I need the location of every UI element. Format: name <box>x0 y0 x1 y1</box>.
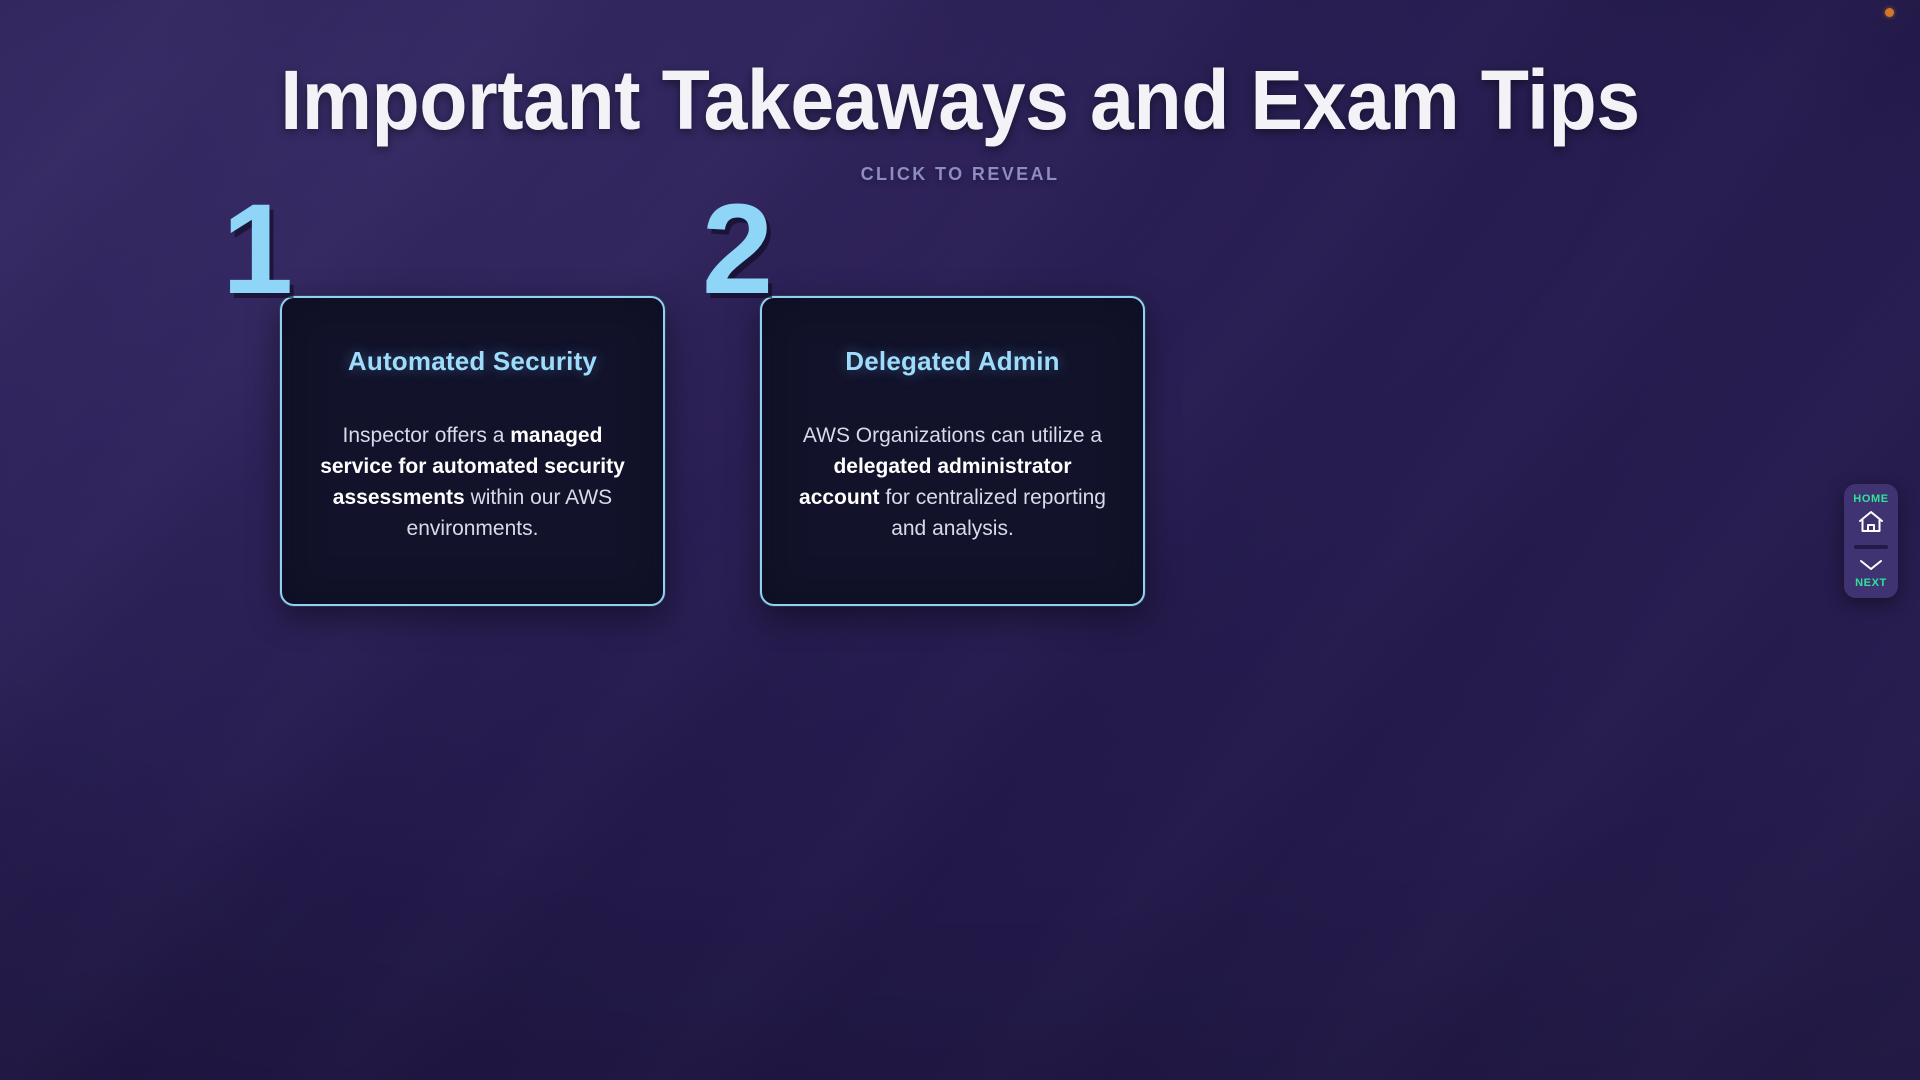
card-number-badge: 2 <box>702 186 773 314</box>
card-body-text: Inspector offers a <box>343 424 511 447</box>
card-body-text: AWS Organizations can utilize a <box>803 424 1102 447</box>
card-body-text: for centralized reporting and analysis. <box>880 486 1106 540</box>
takeaway-card[interactable]: Automated SecurityInspector offers a man… <box>280 296 665 606</box>
nav-divider <box>1854 545 1888 549</box>
chevron-down-icon[interactable] <box>1856 557 1886 573</box>
takeaway-card-list: Automated SecurityInspector offers a man… <box>280 296 1145 606</box>
page-title: Important Takeaways and Exam Tips <box>58 58 1863 142</box>
recording-dot-icon <box>1885 8 1894 17</box>
takeaway-card[interactable]: Delegated AdminAWS Organizations can uti… <box>760 296 1145 606</box>
home-label: HOME <box>1853 493 1888 505</box>
card-title: Delegated Admin <box>790 346 1115 377</box>
takeaway-card-panel[interactable]: Automated SecurityInspector offers a man… <box>280 296 665 606</box>
slide-stage: Important Takeaways and Exam Tips CLICK … <box>0 0 1920 1080</box>
next-label: NEXT <box>1855 577 1887 589</box>
home-icon[interactable] <box>1856 509 1886 535</box>
card-body: Inspector offers a managed service for a… <box>310 421 635 544</box>
navigation-widget[interactable]: HOME NEXT <box>1844 484 1898 598</box>
slide-header: Important Takeaways and Exam Tips CLICK … <box>0 58 1920 185</box>
card-title: Automated Security <box>310 346 635 377</box>
takeaway-card-panel[interactable]: Delegated AdminAWS Organizations can uti… <box>760 296 1145 606</box>
card-body: AWS Organizations can utilize a delegate… <box>790 421 1115 544</box>
card-number-badge: 1 <box>222 186 293 314</box>
